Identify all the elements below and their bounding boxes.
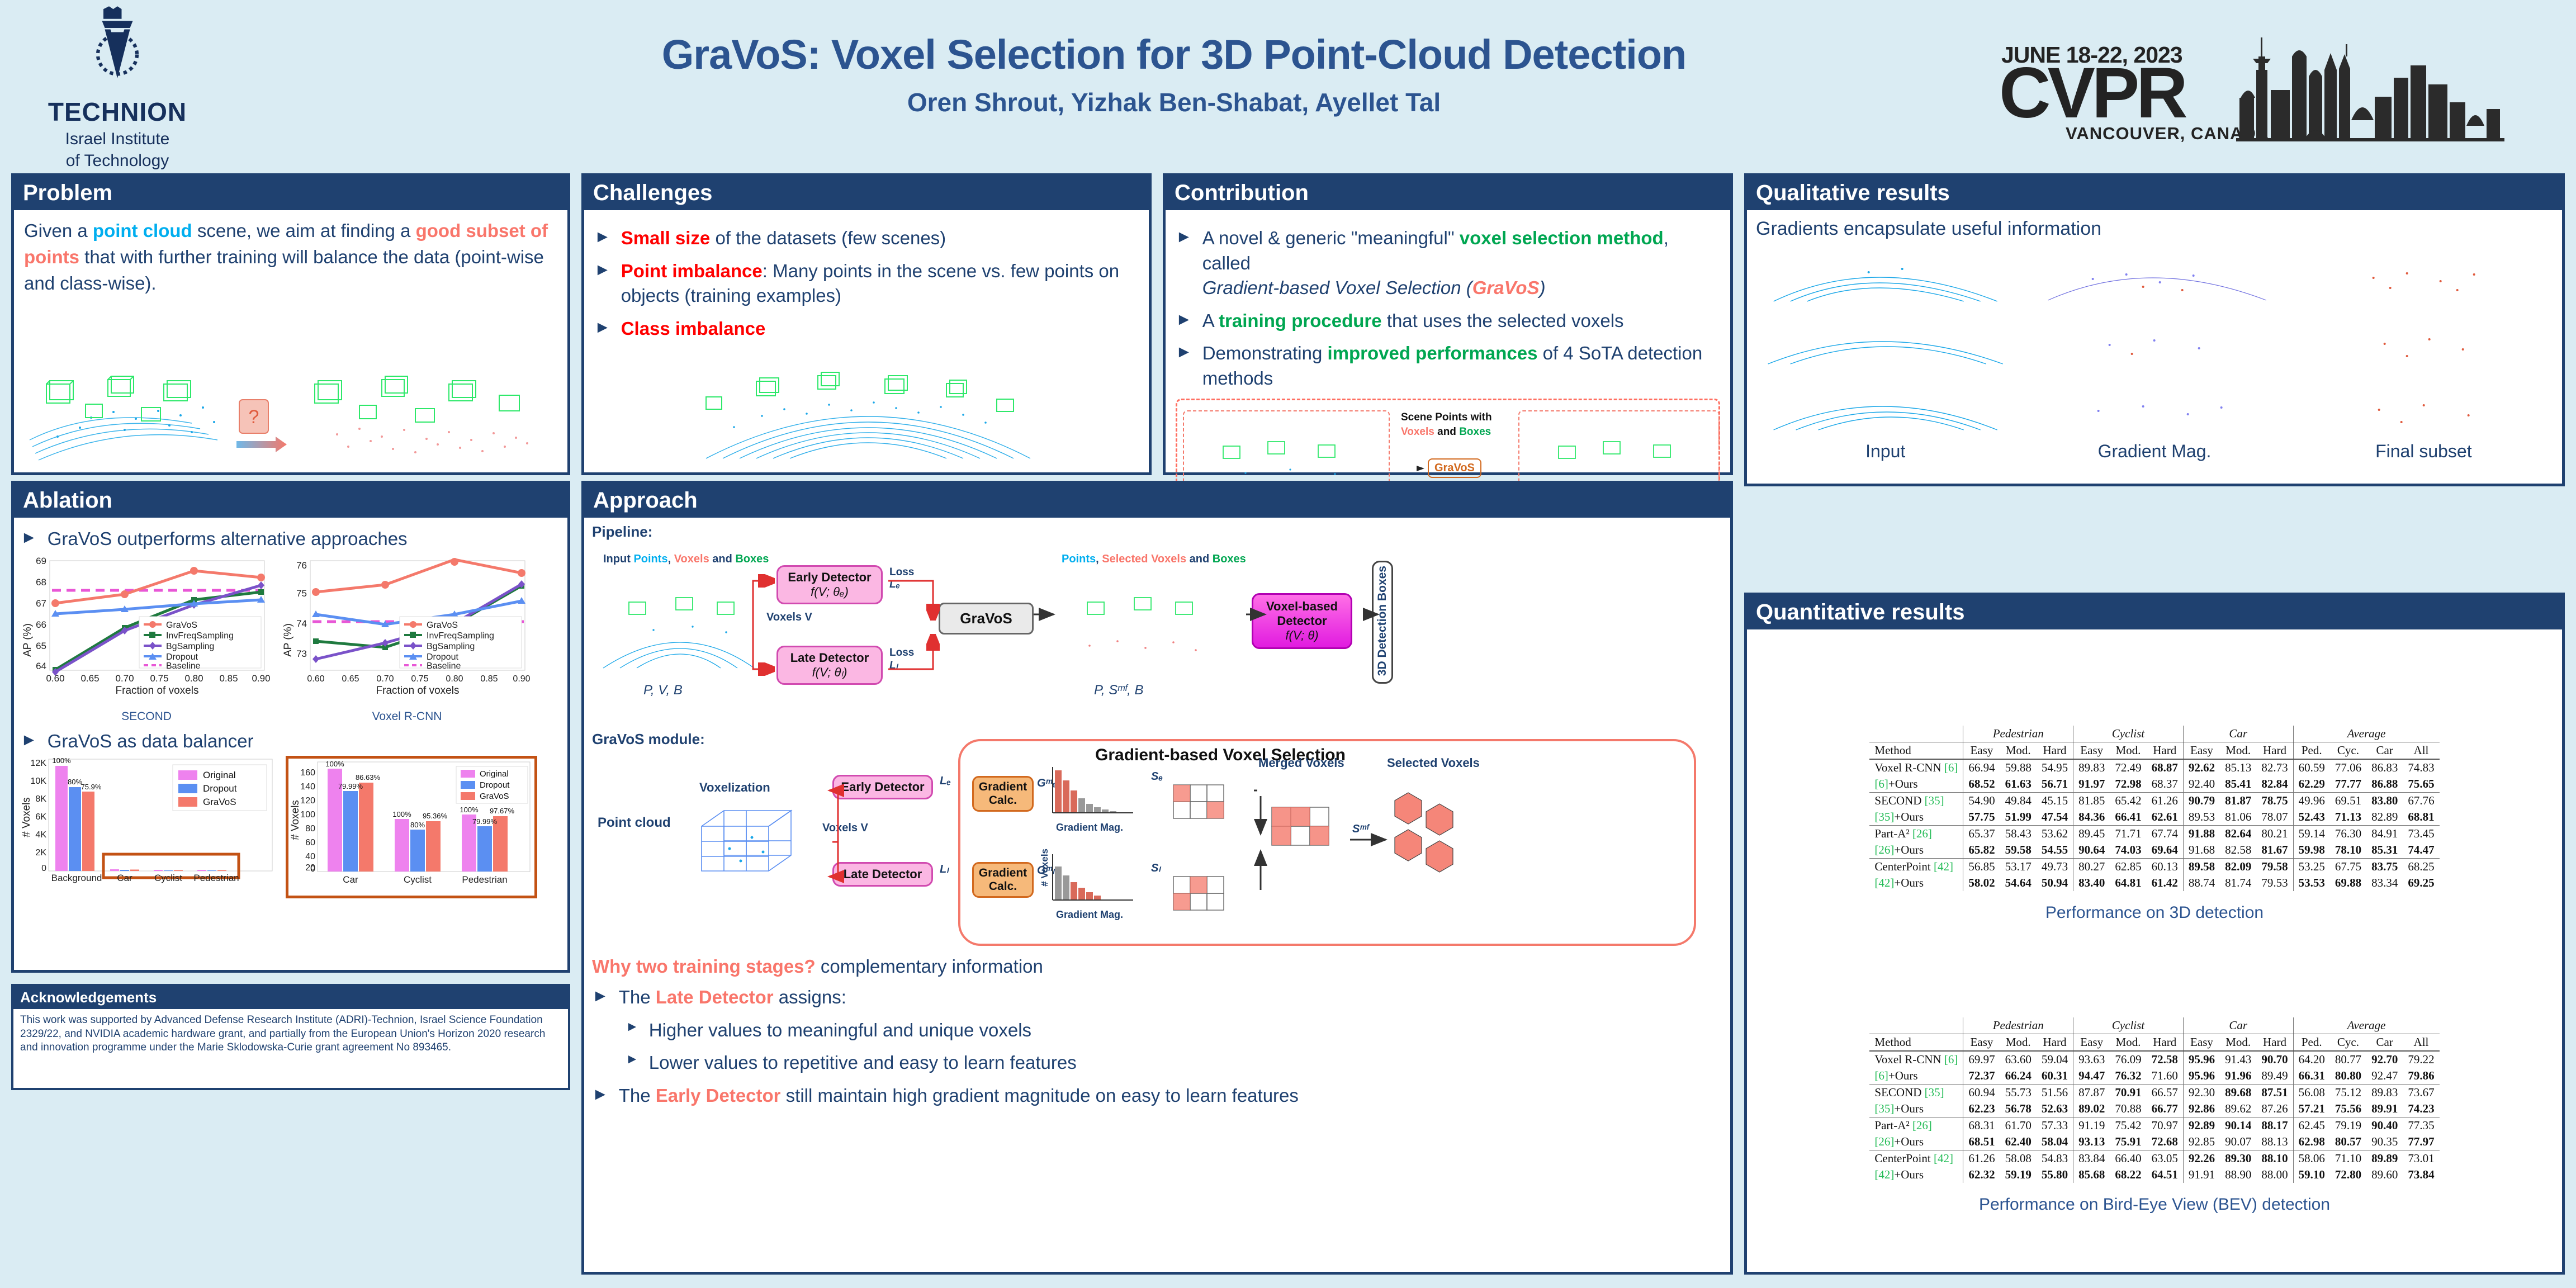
late-sub1-text: Higher values to meaningful and unique v… (649, 1018, 1031, 1043)
col-header-method: Method (1869, 1034, 1963, 1052)
cell-value: 79.58 (2256, 859, 2293, 875)
svg-text:0.80: 0.80 (446, 674, 463, 684)
qual-label-input: Input (1753, 441, 2018, 462)
ablation-bullet-1: ► GraVoS outperforms alternative approac… (21, 527, 561, 552)
cell-value: 87.51 (2256, 1085, 2293, 1101)
cell-value: 51.99 (2000, 809, 2037, 826)
cell-value: 88.10 (2256, 1150, 2293, 1167)
table-row: [42]+Ours62.3259.1955.8085.6868.2264.519… (1869, 1167, 2439, 1183)
svg-text:Dropout: Dropout (480, 780, 510, 790)
author-list: Oren Shrout, Yizhak Ben-Shabat, Ayellet … (559, 87, 1789, 117)
bullet-triangle-icon: ► (594, 316, 611, 338)
svg-text:79.99%: 79.99% (472, 817, 498, 826)
cell-value: 64.20 (2293, 1051, 2330, 1068)
cell-value: 60.13 (2147, 859, 2184, 875)
cell-value: 74.23 (2403, 1101, 2439, 1117)
cell-value: 64.81 (2110, 875, 2146, 891)
cell-value: 68.22 (2110, 1167, 2146, 1183)
cell-value: 93.63 (2073, 1051, 2110, 1068)
svg-text:75.9%: 75.9% (81, 783, 102, 791)
bullet-triangle-icon: ► (594, 259, 611, 281)
cell-method: [26]+Ours (1869, 842, 1963, 859)
svg-text:0.60: 0.60 (307, 674, 324, 684)
cell-method: Voxel R-CNN [6] (1869, 759, 1963, 776)
svg-text:8K: 8K (35, 794, 46, 804)
qualitative-cell (2291, 310, 2556, 372)
cell-value: 63.05 (2147, 1150, 2184, 1167)
cell-value: 72.58 (2147, 1051, 2184, 1068)
contribution-0-pre: A novel & generic "meaningful" (1202, 228, 1460, 248)
late-sub-bullet-2: ► Lower values to repetitive and easy to… (626, 1050, 1722, 1076)
svg-text:74: 74 (296, 618, 307, 629)
cell-value: 63.60 (2000, 1051, 2037, 1068)
panel-problem-title: Problem (14, 176, 567, 210)
arrow-right-icon (1400, 463, 1426, 473)
svg-text:160: 160 (300, 768, 315, 778)
svg-text:0.65: 0.65 (342, 674, 359, 684)
cell-value: 71.60 (2147, 1068, 2184, 1085)
contribution-1-pre: A (1202, 310, 1219, 331)
cell-value: 67.76 (2403, 793, 2439, 809)
cell-value: 61.26 (1963, 1150, 2000, 1167)
cell-value: 90.35 (2366, 1134, 2403, 1150)
svg-text:GraVoS: GraVoS (203, 797, 236, 807)
technion-wordmark: TECHNION (34, 97, 201, 127)
col-header: Hard (2256, 742, 2293, 760)
contribution-diagram-arrow-group: GraVoS (1400, 458, 1500, 478)
caption-bev-detection: Performance on Bird-Eye View (BEV) detec… (1755, 1195, 2554, 1214)
cell-value: 62.61 (2147, 809, 2184, 826)
cell-value: 56.71 (2037, 776, 2073, 793)
svg-text:95.36%: 95.36% (423, 812, 448, 820)
why-question: Why two training stages? (592, 956, 816, 977)
bullet-triangle-icon: ► (1176, 226, 1192, 248)
cell-value: 59.04 (2037, 1051, 2073, 1068)
svg-text:100: 100 (300, 810, 315, 820)
panel-challenges: Challenges ► Small size of the datasets … (581, 173, 1152, 475)
cell-value: 80.80 (2330, 1068, 2366, 1085)
early-detector-bullet: ► The Early Detector still maintain high… (592, 1083, 1722, 1109)
cell-value: 59.10 (2293, 1167, 2330, 1183)
cell-value: 45.15 (2037, 793, 2073, 809)
cell-method: SECOND [35] (1869, 793, 1963, 809)
svg-text:Baseline: Baseline (427, 661, 461, 671)
cell-value: 89.62 (2220, 1101, 2256, 1117)
col-header: All (2403, 1034, 2439, 1052)
col-header: Easy (2183, 742, 2220, 760)
cell-value: 61.63 (2000, 776, 2037, 793)
cell-value: 67.74 (2147, 826, 2184, 842)
challenge-item: ► Small size of the datasets (few scenes… (594, 226, 1139, 251)
cell-value: 72.68 (2147, 1134, 2184, 1150)
cell-value: 47.54 (2037, 809, 2073, 826)
svg-text:100%: 100% (392, 810, 411, 818)
svg-text:100%: 100% (460, 806, 479, 814)
cell-value: 54.90 (1963, 793, 2000, 809)
technion-sub-line1: Israel Institute (34, 129, 201, 149)
table-row: CenterPoint [42]56.8553.1749.7380.2762.8… (1869, 859, 2439, 875)
cell-value: 55.73 (2000, 1085, 2037, 1101)
table-row: [6]+Ours72.3766.2460.3194.4776.3271.6095… (1869, 1068, 2439, 1085)
cell-value: 79.53 (2256, 875, 2293, 891)
cell-method: SECOND [35] (1869, 1085, 1963, 1101)
cell-value: 80.21 (2256, 826, 2293, 842)
col-header: Car (2366, 742, 2403, 760)
cell-value: 69.88 (2330, 875, 2366, 891)
cell-value: 89.58 (2183, 859, 2220, 875)
cell-value: 89.91 (2366, 1101, 2403, 1117)
cell-value: 66.94 (1963, 759, 2000, 776)
cell-value: 81.85 (2073, 793, 2110, 809)
cell-value: 51.56 (2037, 1085, 2073, 1101)
contribution-item: ► A novel & generic "meaningful" voxel s… (1176, 226, 1720, 301)
cell-value: 84.91 (2366, 826, 2403, 842)
cell-value: 73.01 (2403, 1150, 2439, 1167)
cell-value: 54.64 (2000, 875, 2037, 891)
cell-value: 66.40 (2110, 1150, 2146, 1167)
cell-value: 94.47 (2073, 1068, 2110, 1085)
svg-text:BgSampling: BgSampling (427, 642, 475, 651)
cell-value: 90.79 (2183, 793, 2220, 809)
chart-voxelrcnn-title: Voxel R-CNN (281, 710, 533, 723)
cell-value: 69.25 (2403, 875, 2439, 891)
svg-text:12K: 12K (31, 759, 47, 768)
table-row: CenterPoint [42]61.2658.0854.8383.8466.4… (1869, 1150, 2439, 1167)
cell-value: 83.80 (2366, 793, 2403, 809)
panel-challenges-title: Challenges (584, 176, 1149, 210)
bullet-triangle-icon: ► (592, 985, 609, 1007)
cell-method: [6]+Ours (1869, 776, 1963, 793)
page-title: GraVoS: Voxel Selection for 3D Point-Clo… (559, 31, 1789, 78)
svg-text:60: 60 (305, 838, 315, 847)
cell-value: 81.87 (2220, 793, 2256, 809)
challenge-0-rest: of the datasets (few scenes) (710, 228, 946, 248)
group-header: Car (2183, 1017, 2293, 1034)
cell-value: 62.45 (2293, 1117, 2330, 1134)
qualitative-cell (1753, 310, 2018, 372)
svg-text:BgSampling: BgSampling (166, 642, 214, 651)
svg-text:Fraction of voxels: Fraction of voxels (116, 685, 199, 697)
cell-value: 56.85 (1963, 859, 2000, 875)
cell-value: 75.12 (2330, 1085, 2366, 1101)
svg-text:0.85: 0.85 (219, 673, 238, 684)
pipeline-sel-and: and (1186, 553, 1213, 565)
cell-value: 89.02 (2073, 1101, 2110, 1117)
approach-pipeline-label: Pipeline: (592, 523, 1722, 541)
challenge-1-emphasis: Point imbalance (621, 261, 763, 281)
svg-text:# Voxels: # Voxels (290, 800, 301, 840)
panel-qualitative-title: Qualitative results (1747, 176, 2562, 210)
challenge-item: ► Point imbalance: Many points in the sc… (594, 259, 1139, 309)
cell-value: 75.42 (2110, 1117, 2146, 1134)
cell-value: 53.53 (2293, 875, 2330, 891)
cell-value: 92.26 (2183, 1150, 2220, 1167)
cell-value: 92.85 (2183, 1134, 2220, 1150)
cell-method: [35]+Ours (1869, 1101, 1963, 1117)
contribution-1-post: that uses the selected voxels (1382, 310, 1624, 331)
cell-value: 66.77 (2147, 1101, 2184, 1117)
bullet-triangle-icon: ► (626, 1018, 639, 1035)
col-header: Hard (2037, 742, 2073, 760)
cell-value: 60.31 (2037, 1068, 2073, 1085)
cell-value: 61.26 (2147, 793, 2184, 809)
svg-text:Pedestrian: Pedestrian (462, 874, 507, 885)
table-row: [26]+Ours65.8259.5854.5590.6474.0369.649… (1869, 842, 2439, 859)
svg-text:73: 73 (296, 648, 307, 659)
svg-text:66: 66 (36, 619, 46, 630)
challenge-item: ► Class imbalance (594, 316, 1139, 342)
cell-value: 82.73 (2256, 759, 2293, 776)
problem-illustration: ? (24, 300, 555, 468)
cell-value: 68.25 (2403, 859, 2439, 875)
cell-value: 88.00 (2256, 1167, 2293, 1183)
cell-value: 58.02 (1963, 875, 2000, 891)
contribution-diagram-label: Scene Points with Voxels and Boxes (1401, 410, 1513, 439)
cell-value: 92.70 (2366, 1051, 2403, 1068)
bullet-triangle-icon: ► (592, 1083, 609, 1105)
cell-value: 87.87 (2073, 1085, 2110, 1101)
qual-label-gradient: Gradient Mag. (2021, 441, 2287, 462)
cell-value: 83.40 (2073, 875, 2110, 891)
early-pre: The (619, 1085, 656, 1106)
qualitative-cell (2021, 375, 2287, 437)
cvpr-wordmark: CVPR (1999, 58, 2185, 129)
cell-value: 90.40 (2366, 1117, 2403, 1134)
contribution-2-pre: Demonstrating (1202, 343, 1328, 363)
panel-contribution-title: Contribution (1166, 176, 1730, 210)
cell-value: 83.34 (2366, 875, 2403, 891)
svg-text:Dropout: Dropout (203, 783, 237, 794)
cell-value: 65.42 (2110, 793, 2146, 809)
cell-method: CenterPoint [42] (1869, 1150, 1963, 1167)
cell-value: 55.80 (2037, 1167, 2073, 1183)
late-sub-bullet-1: ► Higher values to meaningful and unique… (626, 1018, 1722, 1043)
late-sub2-text: Lower values to repetitive and easy to l… (649, 1050, 1077, 1076)
pipeline-input-voxels: Voxels (674, 553, 709, 565)
gravos-chip: GraVoS (1428, 458, 1481, 478)
cell-value: 58.08 (2000, 1150, 2037, 1167)
cell-value: 66.57 (2147, 1085, 2184, 1101)
pipeline-sel-points: Points (1062, 553, 1096, 565)
svg-text:2K: 2K (35, 848, 46, 858)
contribution-0-line2-post: ) (1540, 277, 1546, 298)
contribution-1-emphasis: training procedure (1219, 310, 1382, 331)
cell-value: 93.13 (2073, 1134, 2110, 1150)
cell-value: 69.97 (1963, 1051, 2000, 1068)
cell-value: 85.31 (2366, 842, 2403, 859)
cell-value: 54.83 (2037, 1150, 2073, 1167)
cell-value: 74.03 (2110, 842, 2146, 859)
group-header: Cyclist (2073, 1017, 2184, 1034)
cell-value: 76.32 (2110, 1068, 2146, 1085)
pipeline-arrows-2 (1034, 598, 1380, 642)
svg-text:AP (%): AP (%) (22, 623, 34, 657)
cell-value: 54.95 (2037, 759, 2073, 776)
cell-value: 92.30 (2183, 1085, 2220, 1101)
svg-text:Car: Car (343, 874, 358, 885)
pipeline-pvb-label: P, V, B (643, 683, 683, 698)
svg-text:6K: 6K (35, 812, 46, 822)
panel-qualitative: Qualitative results Gradients encapsulat… (1744, 173, 2565, 486)
cell-method: CenterPoint [42] (1869, 859, 1963, 875)
cell-value: 92.89 (2183, 1117, 2220, 1134)
cell-value: 49.84 (2000, 793, 2037, 809)
bullet-triangle-icon: ► (1176, 341, 1192, 363)
svg-text:0.70: 0.70 (376, 674, 394, 684)
cell-value: 89.53 (2183, 809, 2220, 826)
svg-text:Fraction of voxels: Fraction of voxels (376, 685, 460, 697)
cell-value: 65.37 (1963, 826, 2000, 842)
col-header: Mod. (2000, 1034, 2037, 1052)
cell-method: Part-A² [26] (1869, 826, 1963, 842)
svg-text:InvFreqSampling: InvFreqSampling (427, 631, 494, 641)
cell-value: 88.90 (2220, 1167, 2256, 1183)
table-row: Part-A² [26]65.3758.4353.6289.4571.7167.… (1869, 826, 2439, 842)
panel-contribution: Contribution ► A novel & generic "meanin… (1163, 173, 1733, 475)
col-header: Ped. (2293, 742, 2330, 760)
cell-value: 57.21 (2293, 1101, 2330, 1117)
svg-text:GraVoS: GraVoS (480, 792, 509, 801)
challenge-0-emphasis: Small size (621, 228, 711, 248)
cell-value: 71.13 (2330, 809, 2366, 826)
svg-text:65: 65 (36, 641, 46, 651)
cell-value: 79.86 (2403, 1068, 2439, 1085)
cell-value: 92.40 (2183, 776, 2220, 793)
svg-text:86.63%: 86.63% (356, 773, 381, 782)
cell-value: 85.13 (2220, 759, 2256, 776)
cell-value: 68.87 (2147, 759, 2184, 776)
table-row: SECOND [35]60.9455.7351.5687.8770.9166.5… (1869, 1085, 2439, 1101)
cell-value: 69.51 (2330, 793, 2366, 809)
cell-value: 76.30 (2330, 826, 2366, 842)
cell-value: 56.08 (2293, 1085, 2330, 1101)
cell-value: 89.45 (2073, 826, 2110, 842)
cell-method: Voxel R-CNN [6] (1869, 1051, 1963, 1068)
cell-value: 89.49 (2256, 1068, 2293, 1085)
cell-value: 89.83 (2366, 1085, 2403, 1101)
svg-text:0.90: 0.90 (252, 673, 270, 684)
cell-value: 89.30 (2220, 1150, 2256, 1167)
cell-value: 68.31 (1963, 1117, 2000, 1134)
problem-t1: Given a (24, 220, 93, 241)
cell-value: 72.37 (1963, 1068, 2000, 1085)
cell-method: [42]+Ours (1869, 875, 1963, 891)
cell-value: 90.70 (2256, 1051, 2293, 1068)
cell-value: 49.73 (2037, 859, 2073, 875)
diagram-and: and (1434, 426, 1459, 438)
cell-value: 70.88 (2110, 1101, 2146, 1117)
panel-quantitative-title: Quantitative results (1747, 595, 2562, 629)
col-header: Mod. (2220, 1034, 2256, 1052)
why-answer: complementary information (816, 956, 1043, 977)
cell-value: 88.17 (2256, 1117, 2293, 1134)
cell-value: 91.68 (2183, 842, 2220, 859)
svg-text:75: 75 (296, 588, 307, 599)
cell-value: 57.75 (1963, 809, 2000, 826)
cell-value: 60.94 (1963, 1085, 2000, 1101)
diagram-boxes-label: Boxes (1459, 426, 1491, 438)
cell-method: [42]+Ours (1869, 1167, 1963, 1183)
col-header: Easy (1963, 742, 2000, 760)
cell-value: 80.77 (2330, 1051, 2366, 1068)
diagram-voxels-label: Voxels (1401, 426, 1434, 438)
cell-value: 59.98 (2293, 842, 2330, 859)
qualitative-column-labels: Input Gradient Mag. Final subset (1753, 441, 2556, 462)
svg-text:79.99%: 79.99% (338, 782, 363, 790)
svg-text:Dropout: Dropout (166, 652, 198, 662)
cell-value: 54.55 (2037, 842, 2073, 859)
svg-text:Cyclist: Cyclist (154, 873, 182, 883)
late-pre: The (619, 987, 656, 1007)
cell-method: [26]+Ours (1869, 1134, 1963, 1150)
group-header: Average (2293, 1017, 2440, 1034)
cell-value: 85.68 (2073, 1167, 2110, 1183)
table-row: Voxel R-CNN [6]69.9763.6059.0493.6376.09… (1869, 1051, 2439, 1068)
svg-text:Original: Original (480, 769, 509, 779)
technion-sub-line2: of Technology (34, 151, 201, 171)
module-arrows (693, 750, 1464, 935)
pipeline-psb-label: P, Sᵐᶠ, B (1094, 683, 1144, 698)
ablation-bullet-2-text: GraVoS as data balancer (48, 729, 254, 754)
cell-value: 77.77 (2330, 776, 2366, 793)
svg-text:Dropout: Dropout (427, 652, 458, 662)
early-post: still maintain high gradient magnitude o… (781, 1085, 1299, 1106)
bullet-triangle-icon: ► (1176, 309, 1192, 330)
cell-value: 68.81 (2403, 809, 2439, 826)
cell-value: 79.19 (2330, 1117, 2366, 1134)
col-header: Cyc. (2330, 742, 2366, 760)
cell-method: [6]+Ours (1869, 1068, 1963, 1085)
svg-text:InvFreqSampling: InvFreqSampling (166, 631, 234, 641)
cell-value: 52.63 (2037, 1101, 2073, 1117)
cell-value: 91.19 (2073, 1117, 2110, 1134)
cell-value: 65.82 (1963, 842, 2000, 859)
svg-text:100%: 100% (325, 760, 344, 768)
why-two-stages-line: Why two training stages? complementary i… (592, 956, 1722, 977)
panel-ablation-title: Ablation (14, 484, 567, 518)
cell-value: 82.58 (2220, 842, 2256, 859)
svg-text:80%: 80% (410, 821, 425, 829)
svg-text:80: 80 (305, 824, 315, 834)
qualitative-cell (2291, 245, 2556, 307)
cell-value: 53.17 (2000, 859, 2037, 875)
col-header: Hard (2147, 1034, 2184, 1052)
table-3d-detection: PedestrianCyclistCarAverageMethodEasyMod… (1869, 726, 2439, 891)
cell-value: 72.98 (2110, 776, 2146, 793)
cell-value: 70.97 (2147, 1117, 2184, 1134)
cell-value: 59.14 (2293, 826, 2330, 842)
late-post: assigns: (774, 987, 846, 1007)
col-header-method: Method (1869, 742, 1963, 760)
challenges-pointcloud-illustration (594, 349, 1142, 461)
cell-value: 83.84 (2073, 1150, 2110, 1167)
cell-value: 91.97 (2073, 776, 2110, 793)
table-row: [35]+Ours57.7551.9947.5484.3666.4162.618… (1869, 809, 2439, 826)
cell-value: 82.89 (2366, 809, 2403, 826)
svg-text:Pedestrian: Pedestrian (193, 873, 239, 883)
table-row: [26]+Ours68.5162.4058.0493.1375.9172.689… (1869, 1134, 2439, 1150)
cell-value: 91.43 (2220, 1051, 2256, 1068)
col-header: All (2403, 742, 2439, 760)
pipeline-input-points: Points (633, 553, 667, 565)
cell-value: 62.40 (2000, 1134, 2037, 1150)
table-row: [42]+Ours58.0254.6450.9483.4064.8161.428… (1869, 875, 2439, 891)
cell-value: 77.06 (2330, 759, 2366, 776)
svg-text:Background: Background (51, 873, 102, 883)
cell-value: 78.07 (2256, 809, 2293, 826)
cell-value: 82.09 (2220, 859, 2256, 875)
svg-text:4K: 4K (35, 830, 46, 840)
